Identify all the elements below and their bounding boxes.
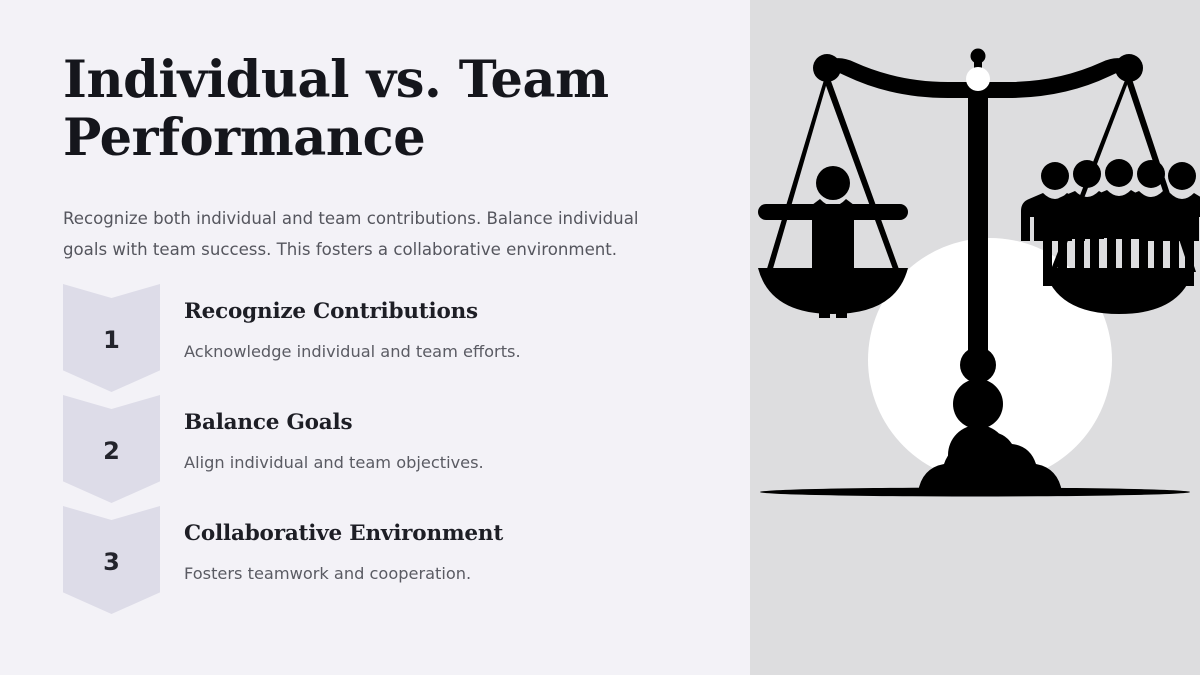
step-description: Acknowledge individual and team efforts. bbox=[184, 341, 684, 362]
list-item[interactable]: 2 Balance Goals Align individual and tea… bbox=[63, 395, 703, 506]
steps-list: 1 Recognize Contributions Acknowledge in… bbox=[63, 284, 703, 617]
list-item[interactable]: 3 Collaborative Environment Fosters team… bbox=[63, 506, 703, 617]
step-description: Fosters teamwork and cooperation. bbox=[184, 563, 684, 584]
step-description: Align individual and team objectives. bbox=[184, 452, 684, 473]
step-title: Recognize Contributions bbox=[184, 299, 684, 325]
illustration-panel bbox=[750, 0, 1200, 675]
page-title: Individual vs. Team Performance bbox=[63, 52, 663, 167]
balance-scale-icon bbox=[750, 0, 1200, 675]
step-number: 2 bbox=[63, 395, 160, 503]
step-text: Balance Goals Align individual and team … bbox=[184, 410, 684, 473]
list-item[interactable]: 1 Recognize Contributions Acknowledge in… bbox=[63, 284, 703, 395]
step-number: 1 bbox=[63, 284, 160, 392]
page-subtitle: Recognize both individual and team contr… bbox=[63, 204, 668, 265]
step-title: Balance Goals bbox=[184, 410, 684, 436]
slide: Individual vs. Team Performance Recogniz… bbox=[0, 0, 1200, 675]
step-title: Collaborative Environment bbox=[184, 521, 684, 547]
content-panel: Individual vs. Team Performance Recogniz… bbox=[0, 0, 750, 675]
step-text: Collaborative Environment Fosters teamwo… bbox=[184, 521, 684, 584]
step-number: 3 bbox=[63, 506, 160, 614]
step-text: Recognize Contributions Acknowledge indi… bbox=[184, 299, 684, 362]
